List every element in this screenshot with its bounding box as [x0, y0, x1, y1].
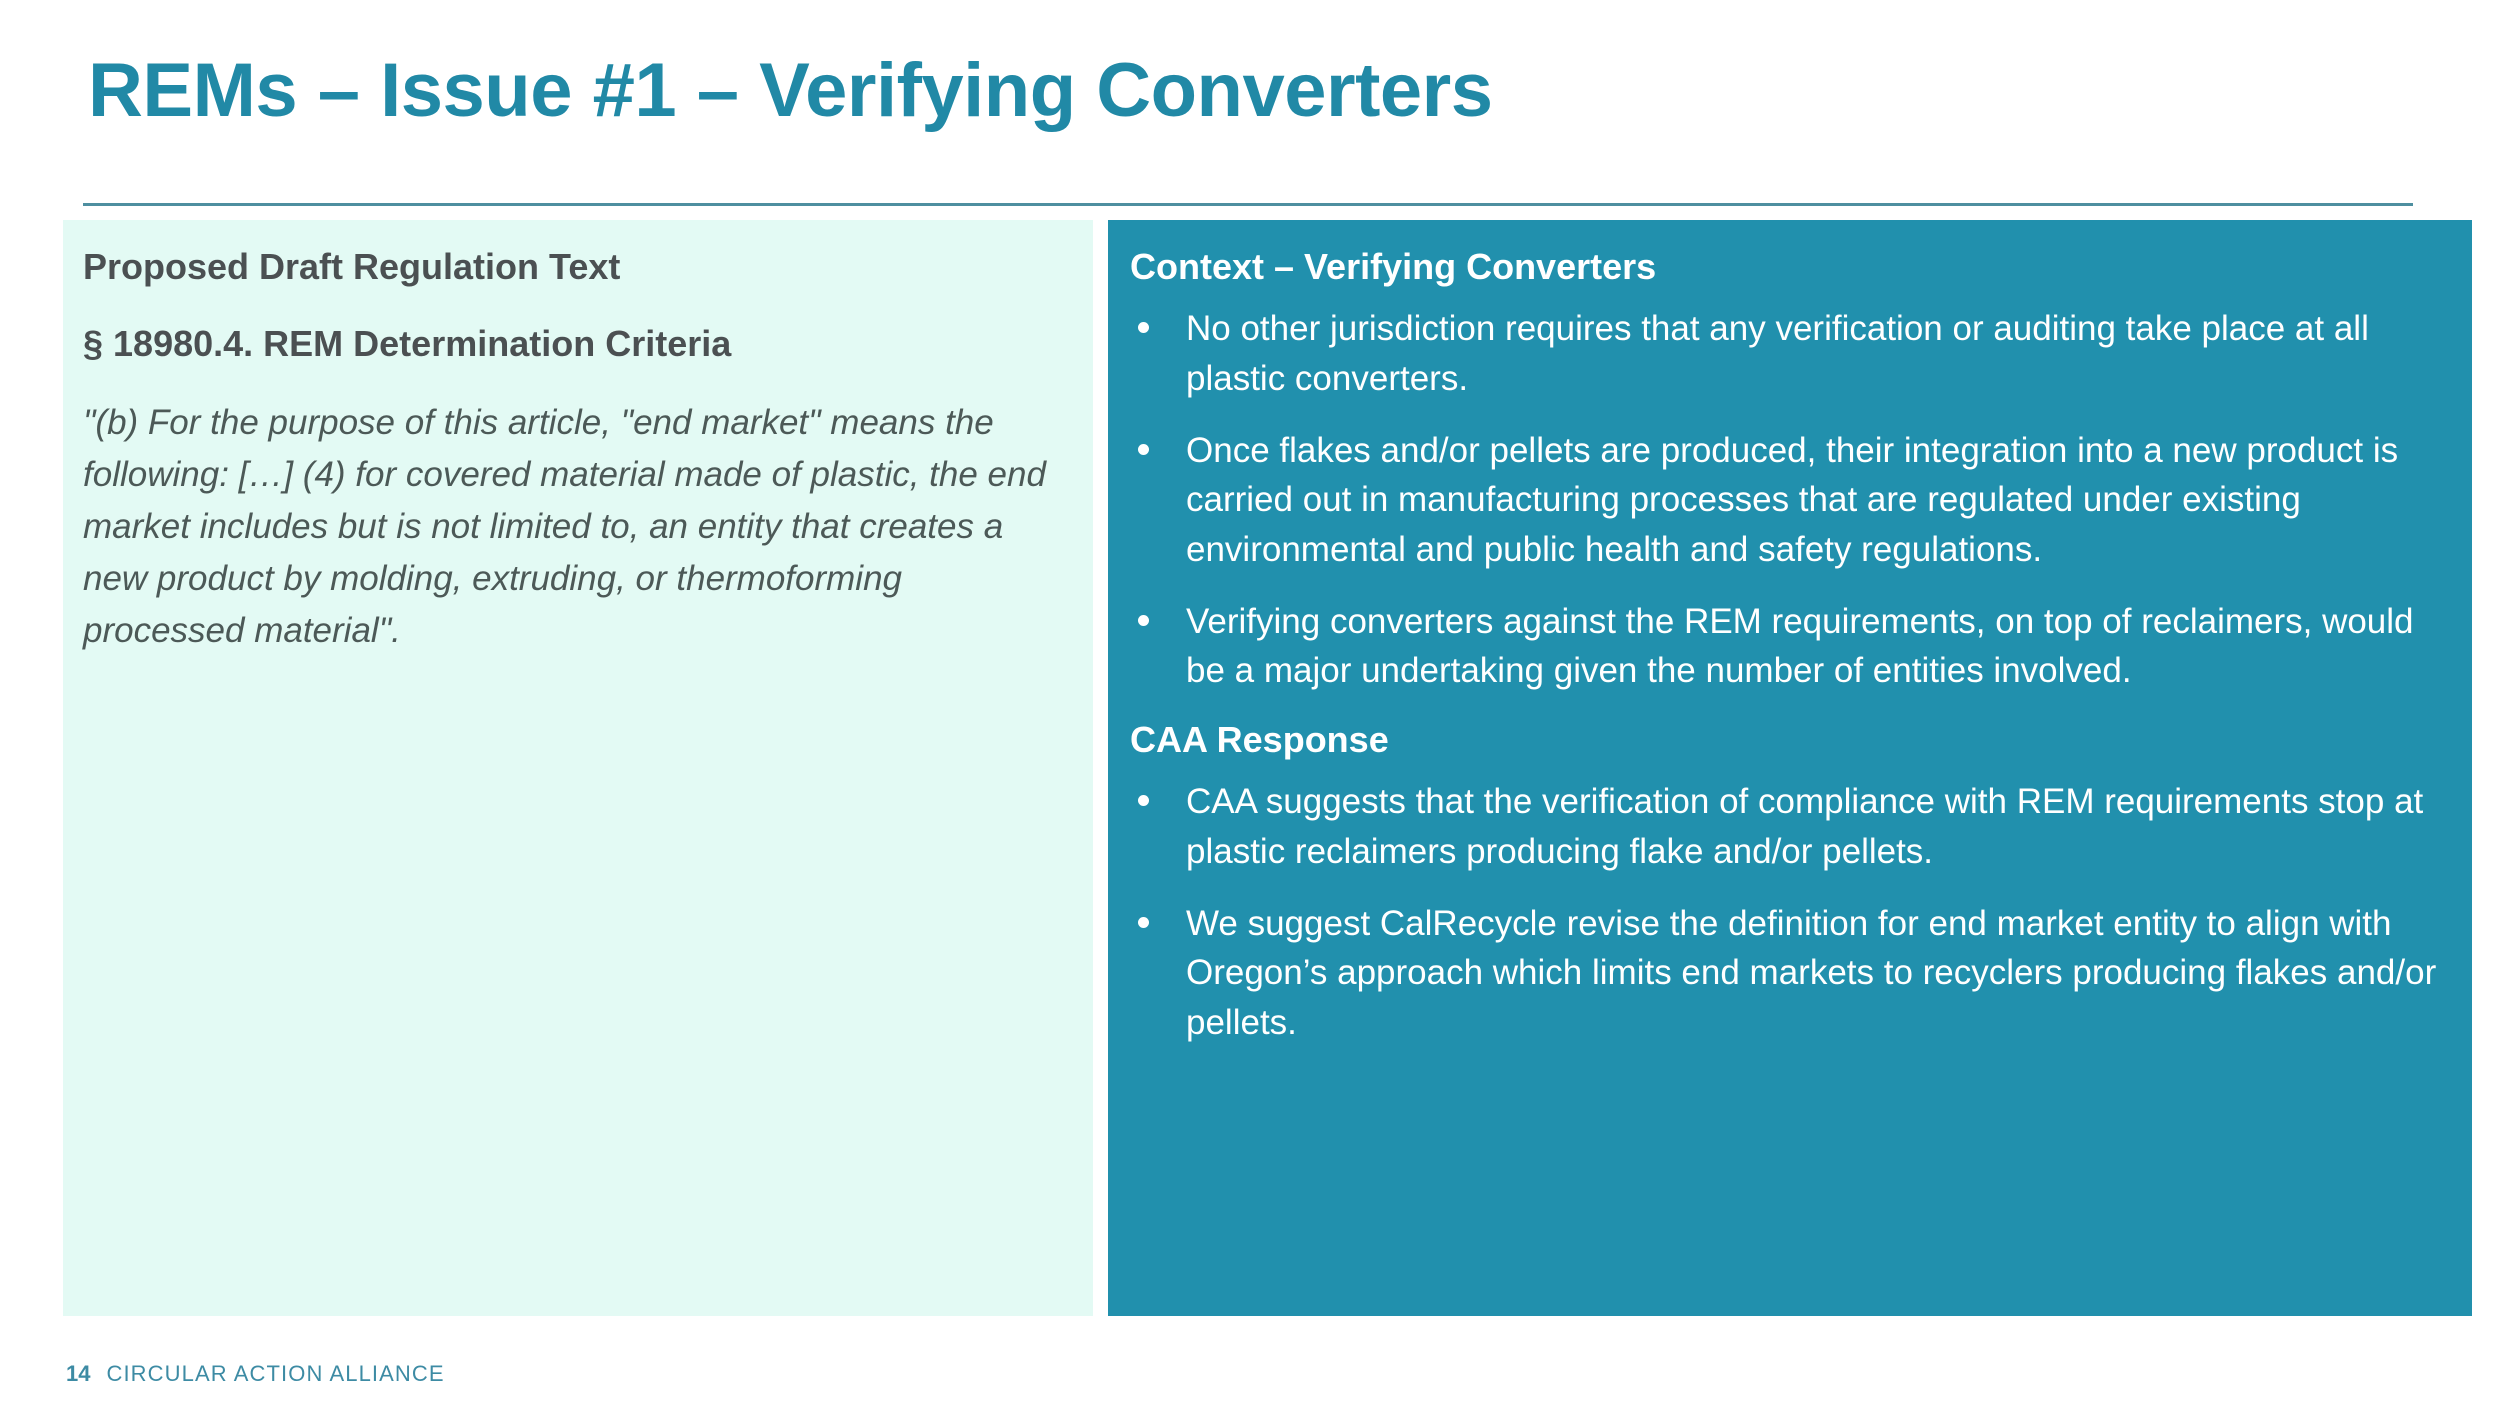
caa-response-heading: CAA Response — [1130, 718, 2450, 761]
list-item: Verifying converters against the REM req… — [1130, 597, 2450, 696]
bullet-dot-icon — [1138, 444, 1149, 455]
list-item: No other jurisdiction requires that any … — [1130, 304, 2450, 403]
left-panel-subheading: § 18980.4. REM Determination Criteria — [83, 322, 1057, 365]
caa-response-bullet-list: CAA suggests that the verification of co… — [1130, 777, 2450, 1047]
list-item-text: Verifying converters against the REM req… — [1186, 602, 2414, 691]
list-item: Once flakes and/or pellets are produced,… — [1130, 426, 2450, 575]
context-response-panel: Context – Verifying Converters No other … — [1108, 220, 2472, 1316]
footer-page-number: 14 — [66, 1361, 90, 1387]
slide-footer: 14 CIRCULAR ACTION ALLIANCE — [66, 1361, 445, 1387]
left-panel-heading: Proposed Draft Regulation Text — [83, 245, 1057, 288]
proposed-draft-regulation-panel: Proposed Draft Regulation Text § 18980.4… — [63, 220, 1093, 1316]
footer-organization-name: CIRCULAR ACTION ALLIANCE — [106, 1361, 444, 1387]
list-item: We suggest CalRecycle revise the definit… — [1130, 899, 2450, 1048]
list-item-text: CAA suggests that the verification of co… — [1186, 782, 2423, 871]
page-title: REMs – Issue #1 – Verifying Converters — [88, 48, 2428, 133]
list-item-text: We suggest CalRecycle revise the definit… — [1186, 904, 2436, 1042]
bullet-dot-icon — [1138, 322, 1149, 333]
slide-canvas: REMs – Issue #1 – Verifying Converters P… — [0, 0, 2500, 1407]
list-item: CAA suggests that the verification of co… — [1130, 777, 2450, 876]
context-bullet-list: No other jurisdiction requires that any … — [1130, 304, 2450, 696]
list-item-text: No other jurisdiction requires that any … — [1186, 309, 2369, 398]
title-divider — [83, 203, 2413, 206]
bullet-dot-icon — [1138, 615, 1149, 626]
list-item-text: Once flakes and/or pellets are produced,… — [1186, 431, 2398, 569]
bullet-dot-icon — [1138, 795, 1149, 806]
left-panel-quote-text: "(b) For the purpose of this article, "e… — [83, 397, 1057, 656]
bullet-dot-icon — [1138, 917, 1149, 928]
context-heading: Context – Verifying Converters — [1130, 245, 2450, 288]
